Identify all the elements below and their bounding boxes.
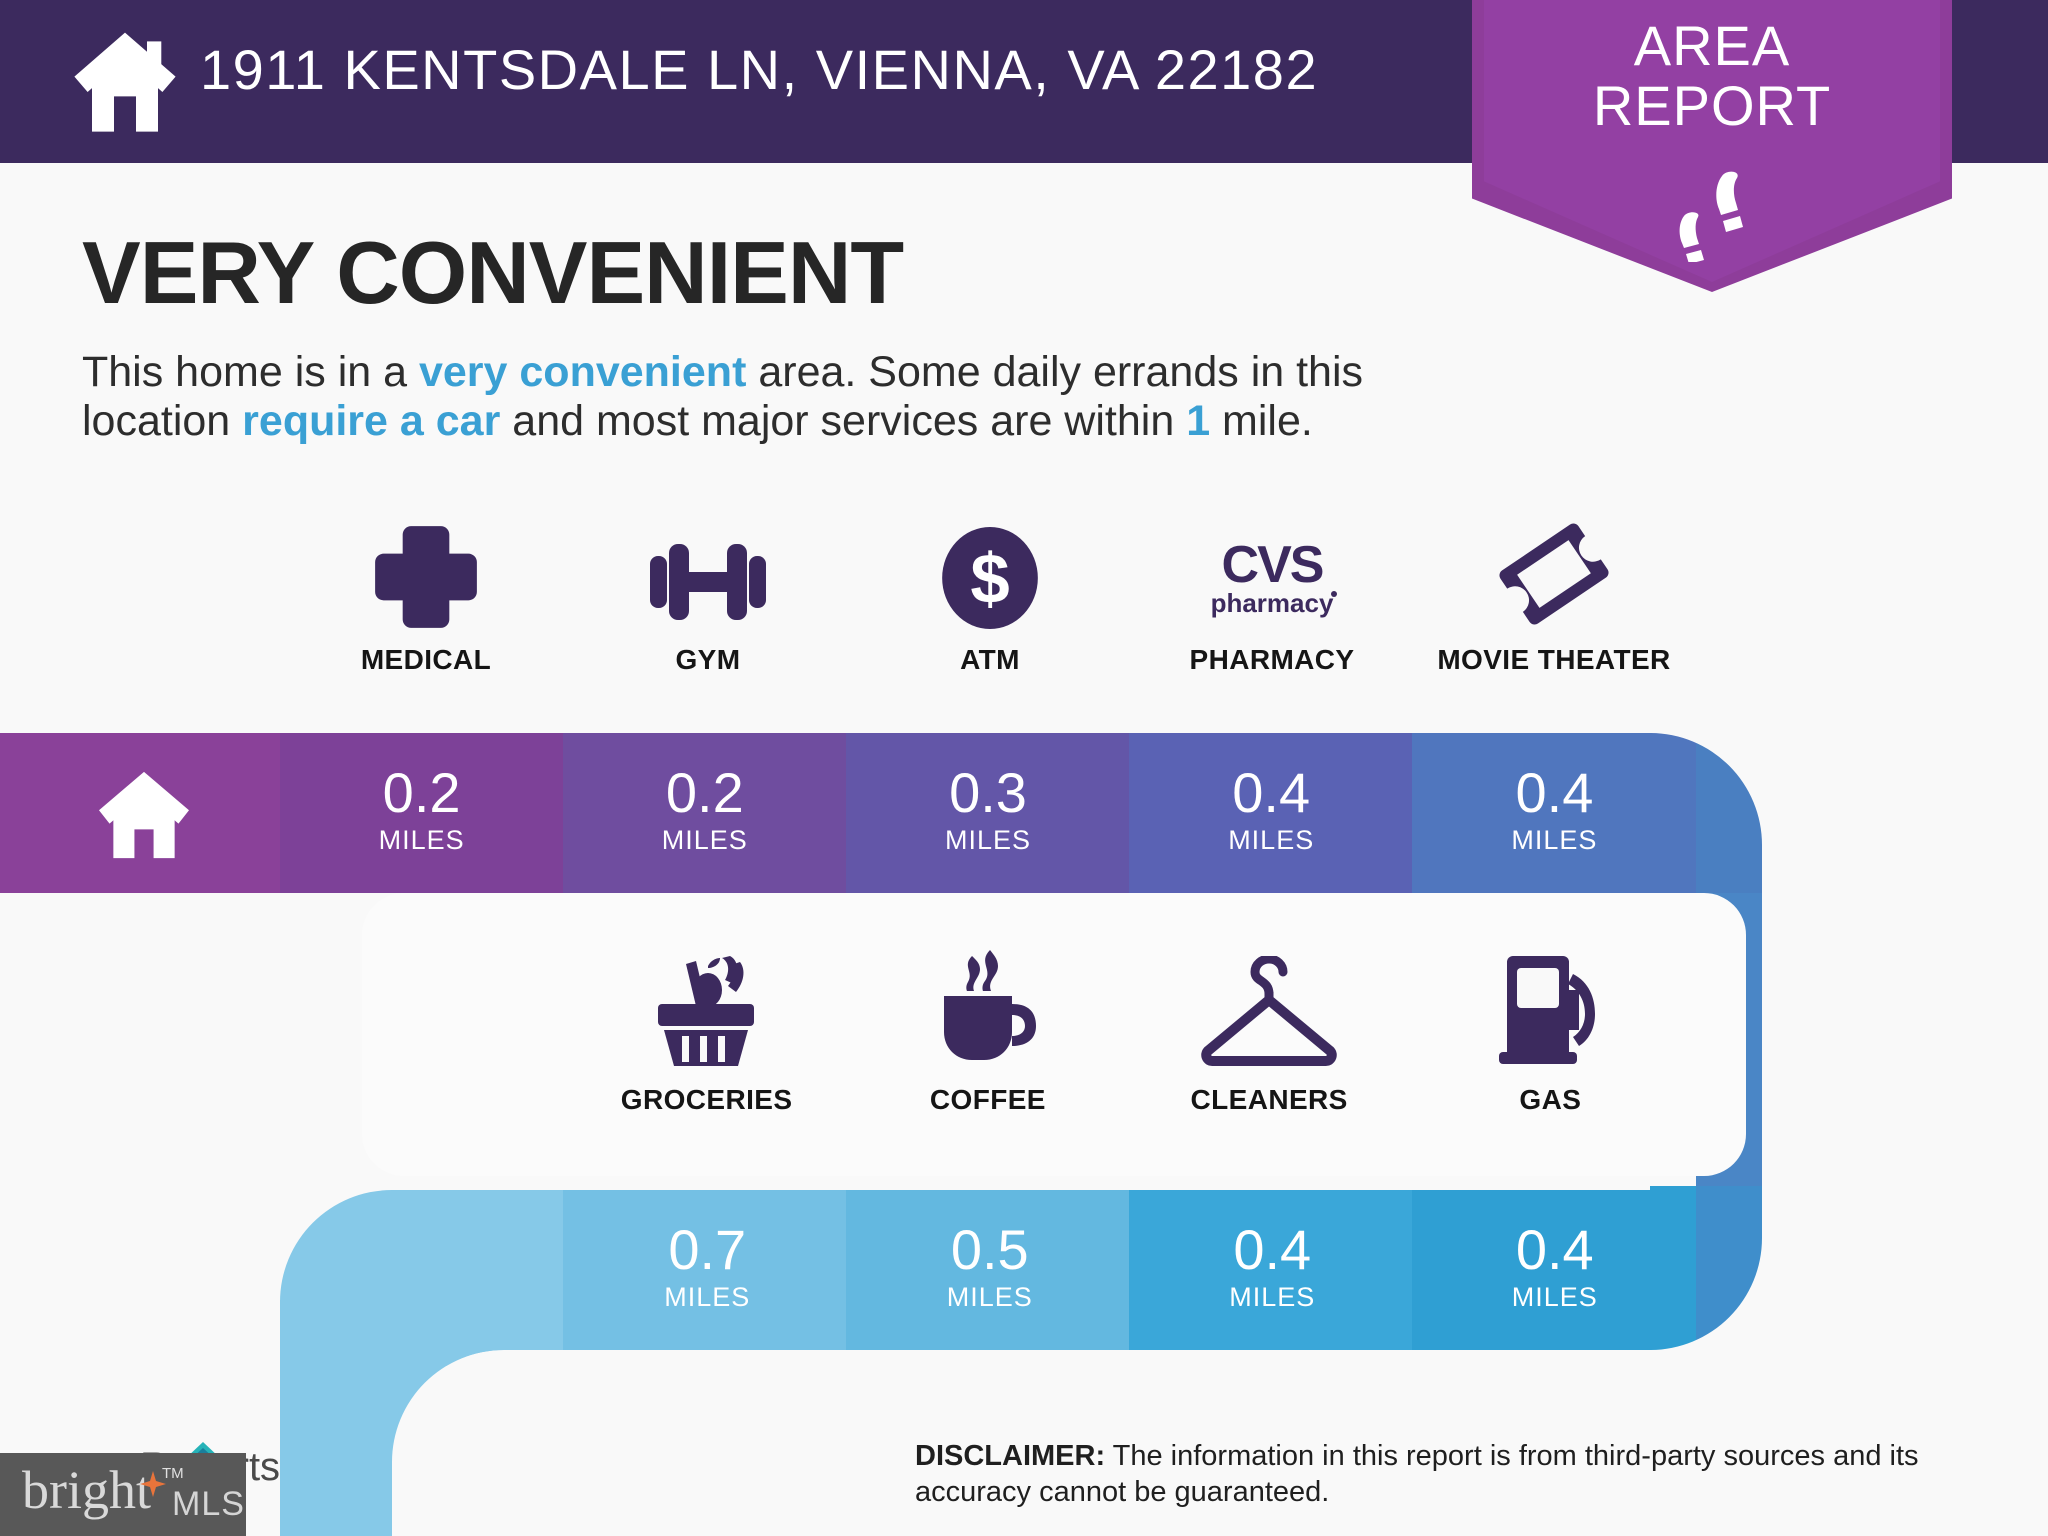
badge-text: AREA REPORT	[1472, 16, 1952, 136]
band-tail-left	[280, 1300, 563, 1536]
amenity-coffee: COFFEE	[847, 960, 1128, 1116]
amenity-gas: GAS	[1410, 960, 1691, 1116]
cvs-pharmacy-icon: CVS pharmacy	[1131, 520, 1413, 630]
grocery-basket-icon	[566, 960, 847, 1070]
mls-wordmark: MLS	[172, 1485, 245, 1524]
amenity-cleaners: CLEANERS	[1129, 960, 1410, 1116]
svg-text:CVS: CVS	[1222, 536, 1323, 594]
movie-ticket-icon	[1413, 520, 1695, 630]
amenity-label: GAS	[1410, 1084, 1691, 1116]
distance-unit: MILES	[849, 1282, 1132, 1313]
distance-unit: MILES	[1413, 825, 1696, 856]
amenity-label: MOVIE THEATER	[1413, 644, 1695, 676]
distance-value: 0.2	[280, 733, 563, 823]
bright-wordmark: bright	[22, 1459, 151, 1521]
row1-icon-group: MEDICAL GYM $ ATM CVS pharmacy	[285, 520, 1695, 676]
amenity-label: CLEANERS	[1129, 1084, 1410, 1116]
distance-cell-groceries: 0.7 MILES	[566, 1190, 849, 1350]
dumbbell-icon	[567, 520, 849, 630]
distance-unit: MILES	[1131, 1282, 1414, 1313]
distance-value: 0.4	[1414, 1190, 1697, 1280]
band-connector-right	[1696, 893, 2048, 1193]
badge-line-1: AREA	[1472, 16, 1952, 76]
distance-cell-movie-theater: 0.4 MILES	[1413, 733, 1696, 893]
distance-value: 0.7	[566, 1190, 849, 1280]
dollar-circle-icon: $	[849, 520, 1131, 630]
distance-value: 0.4	[1130, 733, 1413, 823]
distance-value: 0.3	[846, 733, 1129, 823]
amenity-atm: $ ATM	[849, 520, 1131, 676]
amenity-label: ATM	[849, 644, 1131, 676]
badge-line-2: REPORT	[1472, 76, 1952, 136]
gas-pump-icon	[1410, 960, 1691, 1070]
disclaimer-label: DISCLAIMER:	[915, 1440, 1105, 1472]
amenity-gym: GYM	[567, 520, 849, 676]
distance-value: 0.4	[1413, 733, 1696, 823]
band-segment-corner-br	[1696, 1186, 2048, 1366]
clothes-hanger-icon	[1129, 960, 1410, 1070]
amenity-groceries: GROCERIES	[566, 960, 847, 1116]
amenity-pharmacy: CVS pharmacy PHARMACY	[1131, 520, 1413, 676]
band-segment-corner-tr	[1696, 720, 2048, 905]
distance-unit: MILES	[280, 825, 563, 856]
amenity-label: PHARMACY	[1131, 644, 1413, 676]
svg-text:pharmacy: pharmacy	[1211, 588, 1334, 618]
amenity-label: GROCERIES	[566, 1084, 847, 1116]
distance-cell-cleaners: 0.4 MILES	[1131, 1190, 1414, 1350]
distance-cell-gym: 0.2 MILES	[563, 733, 846, 893]
distance-cell-pharmacy: 0.4 MILES	[1130, 733, 1413, 893]
distance-value: 0.4	[1131, 1190, 1414, 1280]
distance-cell-atm: 0.3 MILES	[846, 733, 1129, 893]
distance-unit: MILES	[846, 825, 1129, 856]
disclaimer: DISCLAIMER: The information in this repo…	[915, 1438, 2005, 1510]
medical-cross-icon	[285, 520, 567, 630]
trademark-mark: TM	[162, 1465, 184, 1482]
distance-cell-medical: 0.2 MILES	[280, 733, 563, 893]
distance-value: 0.5	[849, 1190, 1132, 1280]
amenity-label: MEDICAL	[285, 644, 567, 676]
bright-mls-logo: bright TM MLS	[0, 1453, 246, 1536]
coffee-cup-icon	[847, 960, 1128, 1070]
row1-distance-group: 0.2 MILES 0.2 MILES 0.3 MILES 0.4 MILES …	[280, 733, 1696, 893]
svg-text:$: $	[970, 539, 1009, 618]
amenity-label: GYM	[567, 644, 849, 676]
distance-unit: MILES	[1130, 825, 1413, 856]
amenity-medical: MEDICAL	[285, 520, 567, 676]
amenity-movie-theater: MOVIE THEATER	[1413, 520, 1695, 676]
row2-distance-group: 0.7 MILES 0.5 MILES 0.4 MILES 0.4 MILES	[566, 1190, 1696, 1350]
distance-cell-coffee: 0.5 MILES	[849, 1190, 1132, 1350]
distance-cell-gas: 0.4 MILES	[1414, 1190, 1697, 1350]
footprints-icon	[1670, 170, 1756, 262]
distance-unit: MILES	[563, 825, 846, 856]
row2-icon-group: GROCERIES COFFEE CLEANERS	[566, 960, 1691, 1116]
origin-home-icon	[96, 770, 192, 860]
distance-value: 0.2	[563, 733, 846, 823]
distance-unit: MILES	[566, 1282, 849, 1313]
amenity-label: COFFEE	[847, 1084, 1128, 1116]
distance-unit: MILES	[1414, 1282, 1697, 1313]
